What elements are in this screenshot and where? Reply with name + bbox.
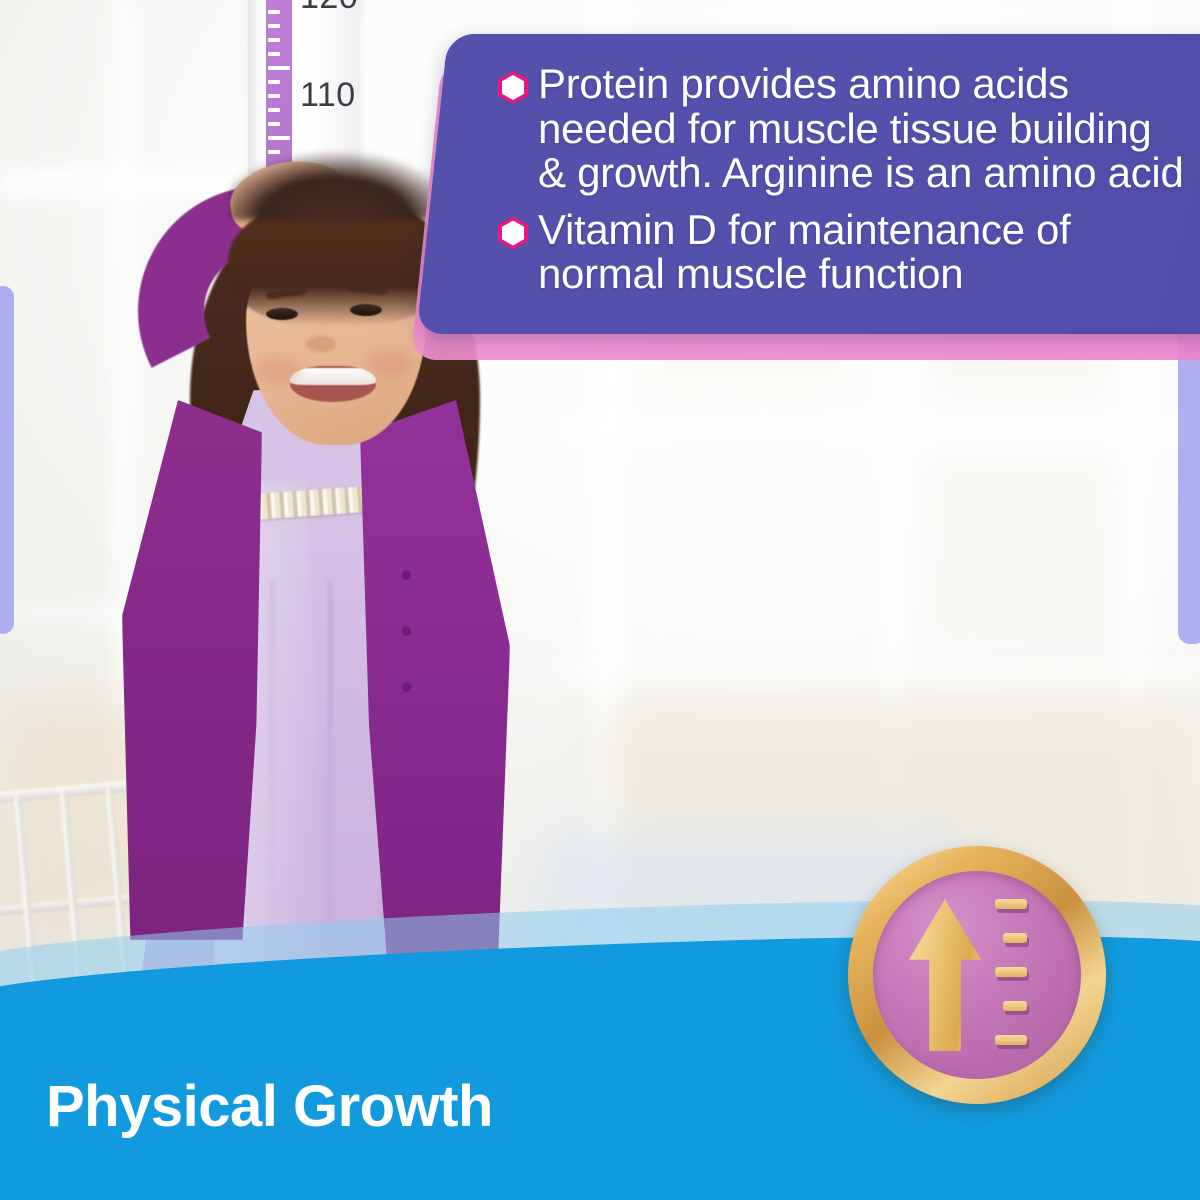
badge-ruler-tick xyxy=(995,1035,1027,1045)
height-ruler: 120 110 xyxy=(248,0,358,174)
growth-arrow-ruler-icon xyxy=(873,871,1081,1079)
badge-ruler-tick xyxy=(1003,1001,1027,1011)
ruler-label-110: 110 xyxy=(300,76,356,115)
cheek-blush xyxy=(368,350,412,378)
info-panel-content: Protein provides amino acids needed for … xyxy=(448,34,1200,334)
ruler-tick-major xyxy=(268,136,290,140)
head-top-shadow xyxy=(230,150,440,220)
eye xyxy=(266,308,298,320)
cardigan-right xyxy=(360,400,510,960)
eye xyxy=(350,304,382,316)
ruler-tick-minor xyxy=(268,38,280,42)
ruler-tick-minor xyxy=(268,24,280,28)
cardigan-left xyxy=(122,400,262,940)
window-frame-bar xyxy=(560,418,1200,444)
smiling-mouth xyxy=(290,366,376,402)
ruler-tick-minor xyxy=(268,122,280,126)
cardigan-button xyxy=(402,682,411,691)
cardigan-button xyxy=(402,570,411,579)
poster-canvas: 120 110 xyxy=(0,0,1200,1200)
ruler-tick-major xyxy=(268,66,290,70)
cardigan-button xyxy=(402,626,411,635)
ruler-label-120: 120 xyxy=(300,0,358,17)
bullet-text-protein: Protein provides amino acids needed for … xyxy=(538,62,1184,196)
badge-ruler-tick xyxy=(995,899,1027,909)
window-pane xyxy=(930,460,1110,640)
badge-ruler-tick xyxy=(1003,933,1027,943)
ruler-tick-minor xyxy=(268,108,280,112)
cheek-blush xyxy=(256,356,300,384)
nose xyxy=(306,336,336,352)
hexagon-bullet-icon xyxy=(498,217,528,250)
ruler-tick-minor xyxy=(268,52,280,56)
bullet-item-protein: Protein provides amino acids needed for … xyxy=(498,62,1184,196)
badge-inner-disc xyxy=(873,871,1081,1079)
ruler-tick-minor xyxy=(268,10,280,14)
decor-tab-left xyxy=(0,286,14,634)
window-frame-bar xyxy=(560,660,1200,684)
bullet-item-vitamin-d: Vitamin D for maintenance of normal musc… xyxy=(498,208,1184,297)
bullet-text-vitamin-d: Vitamin D for maintenance of normal musc… xyxy=(538,208,1184,297)
badge-ruler-tick xyxy=(995,967,1027,977)
window-pane xyxy=(640,460,860,640)
growth-badge xyxy=(848,846,1106,1104)
ruler-tick-minor xyxy=(268,94,280,98)
hexagon-bullet-icon xyxy=(498,71,528,104)
up-arrow-icon xyxy=(909,899,981,1051)
ruler-tick-minor xyxy=(268,80,280,84)
teeth xyxy=(290,368,376,385)
page-title: Physical Growth xyxy=(46,1073,493,1140)
